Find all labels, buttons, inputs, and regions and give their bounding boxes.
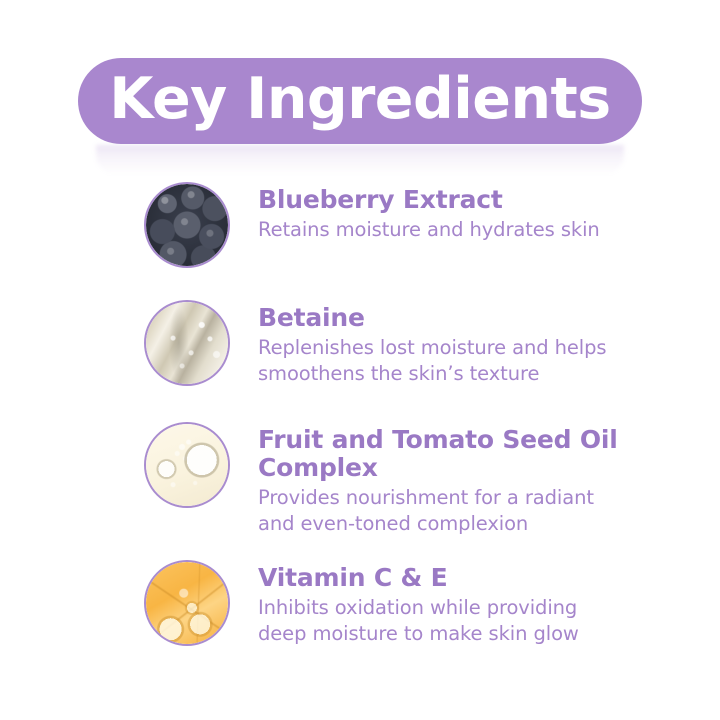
key-ingredients-banner: Key Ingredients xyxy=(78,58,642,144)
ingredient-thumb-cell xyxy=(0,560,258,646)
oil-droplets-artwork xyxy=(146,424,228,506)
ingredient-thumb-cell xyxy=(0,422,258,508)
blueberries-photo-icon xyxy=(144,182,230,268)
ingredient-text-cell: Vitamin C & E Inhibits oxidation while p… xyxy=(258,560,720,647)
ingredient-description: Inhibits oxidation while providing deep … xyxy=(258,595,618,647)
ingredient-title: Fruit and Tomato Seed Oil Complex xyxy=(258,426,720,482)
ingredient-description: Provides nourishment for a radiant and e… xyxy=(258,485,618,537)
ingredients-list: Blueberry Extract Retains moisture and h… xyxy=(0,182,720,678)
ingredient-title: Betaine xyxy=(258,304,720,332)
banner-reflection xyxy=(96,145,624,175)
ingredient-title: Blueberry Extract xyxy=(258,186,720,214)
golden-oil-bubbles-photo-icon xyxy=(144,560,230,646)
ingredient-row-vitamin-c-and-e: Vitamin C & E Inhibits oxidation while p… xyxy=(0,560,720,678)
cream-gel-texture-photo-icon xyxy=(144,300,230,386)
page-title: Key Ingredients xyxy=(109,71,610,128)
ingredient-text-cell: Betaine Replenishes lost moisture and he… xyxy=(258,300,720,387)
cream-gel-artwork xyxy=(146,302,228,384)
golden-oil-artwork xyxy=(146,562,228,644)
ingredient-row-fruit-and-tomato-seed-oil-complex: Fruit and Tomato Seed Oil Complex Provid… xyxy=(0,422,720,560)
ingredient-text-cell: Fruit and Tomato Seed Oil Complex Provid… xyxy=(258,422,720,537)
ingredient-text-cell: Blueberry Extract Retains moisture and h… xyxy=(258,182,720,243)
ingredient-thumb-cell xyxy=(0,300,258,386)
blueberries-artwork xyxy=(146,184,228,266)
ingredient-row-betaine: Betaine Replenishes lost moisture and he… xyxy=(0,300,720,422)
ingredient-description: Replenishes lost moisture and helps smoo… xyxy=(258,335,618,387)
header-section: Key Ingredients xyxy=(0,0,720,180)
oil-droplets-photo-icon xyxy=(144,422,230,508)
ingredient-title: Vitamin C & E xyxy=(258,564,720,592)
ingredient-thumb-cell xyxy=(0,182,258,268)
ingredient-description: Retains moisture and hydrates skin xyxy=(258,217,618,243)
ingredient-row-blueberry-extract: Blueberry Extract Retains moisture and h… xyxy=(0,182,720,300)
